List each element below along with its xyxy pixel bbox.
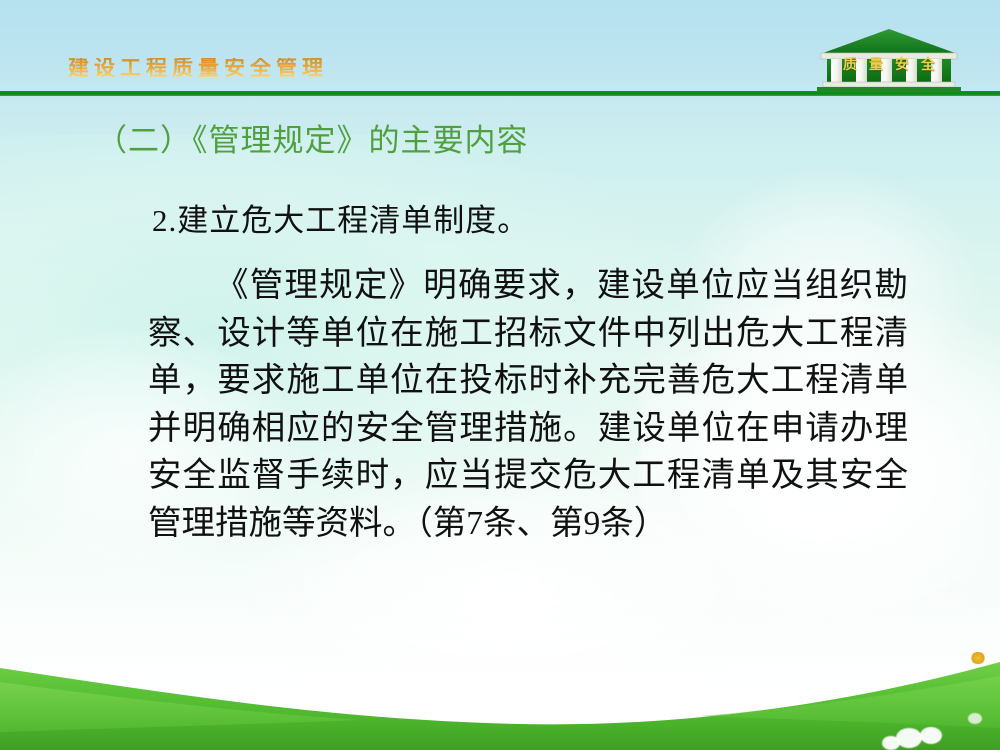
slide: 建设工程质量安全管理 [0,0,1000,750]
slide-content: （二）《管理规定》的主要内容 2.建立危大工程清单制度。 《管理规定》明确要求，… [0,96,1000,750]
header-title: 建设工程质量安全管理 [68,58,328,79]
sub-heading: 2.建立危大工程清单制度。 [152,202,529,239]
body-paragraph: 《管理规定》明确要求，建设单位应当组织勘察、设计等单位在施工招标文件中列出危大工… [148,262,908,547]
slide-header: 建设工程质量安全管理 [0,0,1000,96]
section-title: （二）《管理规定》的主要内容 [96,122,529,159]
quality-safety-temple-logo: 质量安全 [815,27,963,93]
